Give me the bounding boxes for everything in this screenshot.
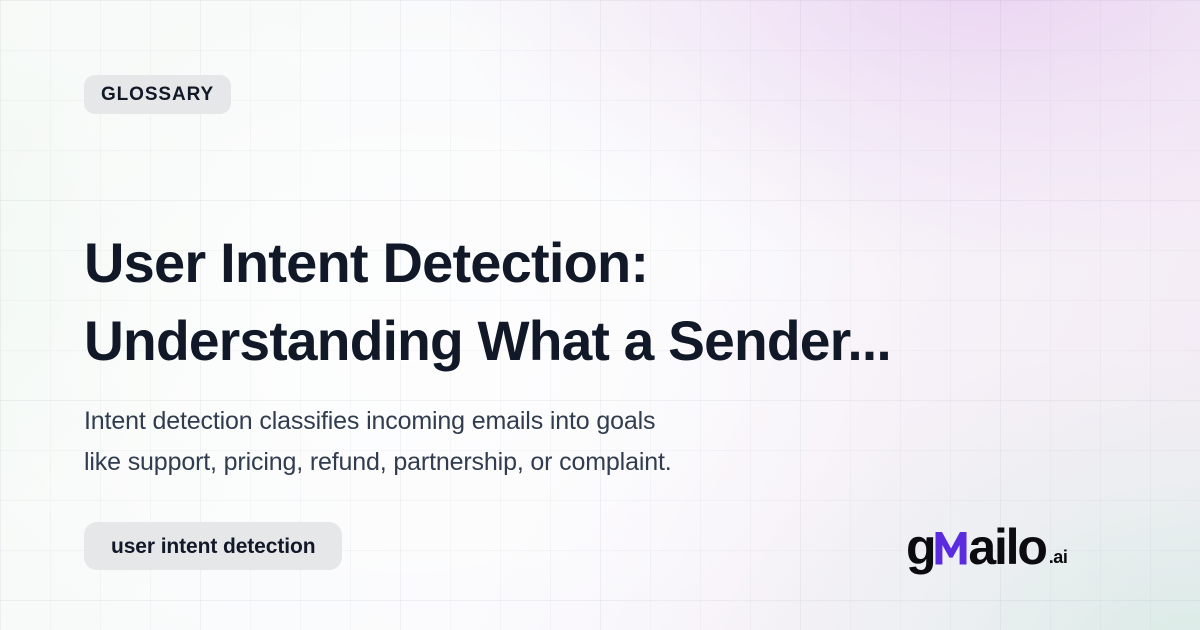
page-subtitle: Intent detection classifies incoming ema…: [84, 401, 964, 483]
keyword-tag: user intent detection: [84, 522, 342, 570]
glossary-badge: GLOSSARY: [84, 75, 231, 114]
page-title: User Intent Detection: Understanding Wha…: [84, 224, 1004, 380]
glossary-badge-label: GLOSSARY: [101, 85, 214, 104]
gmailo-logo-letters-ailo: ailo: [968, 522, 1045, 572]
page-title-line-1: User Intent Detection:: [84, 224, 1004, 302]
card-content: GLOSSARY User Intent Detection: Understa…: [0, 0, 1200, 630]
gmailo-logo: g ailo .ai: [906, 518, 1068, 572]
page-subtitle-line-1: Intent detection classifies incoming ema…: [84, 401, 964, 442]
gmailo-logo-wordmark: g ailo .ai: [906, 522, 1068, 572]
m-envelope-icon: [933, 529, 969, 565]
og-card: GLOSSARY User Intent Detection: Understa…: [0, 0, 1200, 630]
gmailo-logo-tld: .ai: [1049, 548, 1068, 566]
gmailo-logo-letter-g: g: [906, 522, 934, 572]
keyword-tag-label: user intent detection: [111, 536, 315, 557]
page-title-line-2: Understanding What a Sender...: [84, 302, 990, 380]
page-subtitle-line-2: like support, pricing, refund, partnersh…: [84, 442, 964, 483]
